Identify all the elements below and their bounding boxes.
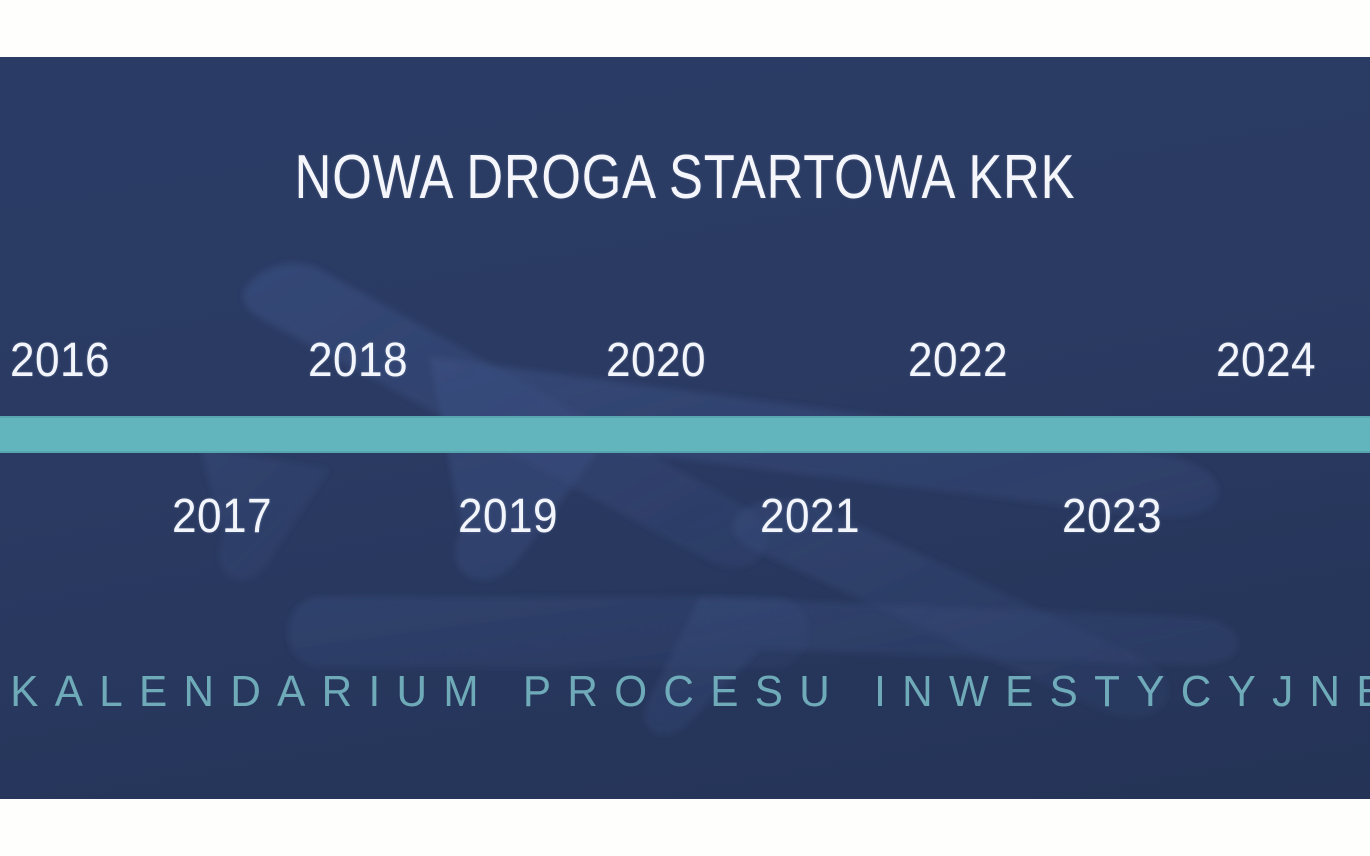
slide-canvas: NOWA DROGA STARTOWA KRK 2016 2018 2020 2… <box>0 57 1370 799</box>
timeline-year-2024: 2024 <box>1216 333 1316 389</box>
airplane-icon-upper <box>200 263 1218 667</box>
timeline-year-2022: 2022 <box>908 333 1008 389</box>
timeline-year-2021: 2021 <box>760 489 860 545</box>
timeline-years-lower: 2017 2019 2021 2023 <box>0 489 1370 549</box>
timeline-years-upper: 2016 2018 2020 2022 2024 <box>0 333 1370 393</box>
timeline-year-2020: 2020 <box>606 333 706 389</box>
slide-tagline: KALENDARIUM PROCESU INWESTYCYJNEGO <box>10 662 1364 722</box>
letterbox-bottom <box>0 799 1370 856</box>
slide-stage: NOWA DROGA STARTOWA KRK 2016 2018 2020 2… <box>0 0 1370 856</box>
timeline-year-2018: 2018 <box>308 333 408 389</box>
timeline-year-2023: 2023 <box>1062 489 1162 545</box>
slide-title: NOWA DROGA STARTOWA KRK <box>123 147 1246 209</box>
timeline-bar <box>0 416 1370 453</box>
letterbox-top <box>0 0 1370 57</box>
timeline-year-2016: 2016 <box>10 333 110 389</box>
timeline-year-2019: 2019 <box>458 489 558 545</box>
timeline-year-2017: 2017 <box>172 489 272 545</box>
